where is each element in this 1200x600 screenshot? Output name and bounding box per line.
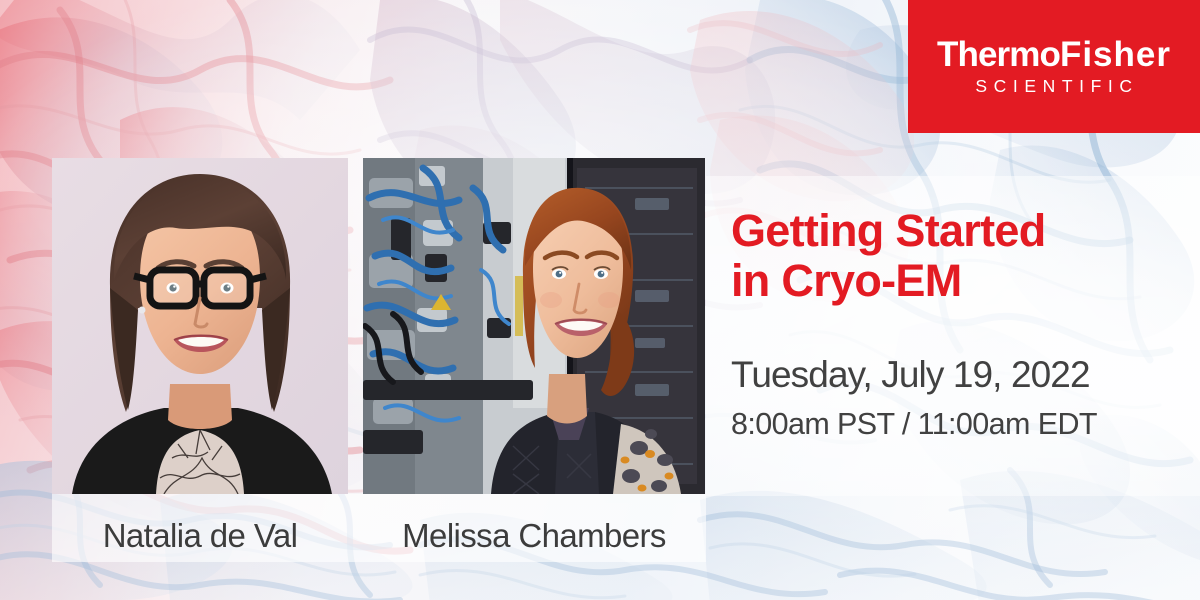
- logo-tagline: SCIENTIFIC: [975, 78, 1138, 96]
- event-date: Tuesday, July 19, 2022: [731, 354, 1090, 396]
- speaker-name-natalia-de-val: Natalia de Val: [52, 517, 348, 555]
- logo-wordmark-thermo: Thermo: [937, 35, 1060, 74]
- speaker-photo-melissa-chambers: [363, 158, 705, 494]
- page-title: Getting Started in Cryo-EM: [731, 206, 1181, 307]
- webinar-banner: ThermoFisher SCIENTIFIC: [0, 0, 1200, 600]
- logo-wordmark: ThermoFisher: [937, 37, 1171, 72]
- headline-line-1: Getting Started: [731, 206, 1181, 256]
- event-time: 8:00am PST / 11:00am EDT: [731, 407, 1097, 442]
- speaker-name-melissa-chambers: Melissa Chambers: [363, 517, 705, 555]
- speaker-photo-natalia-de-val: [52, 158, 348, 494]
- headline-line-2: in Cryo-EM: [731, 256, 1181, 306]
- thermo-fisher-scientific-logo: ThermoFisher SCIENTIFIC: [908, 0, 1200, 133]
- logo-wordmark-fisher: Fisher: [1060, 35, 1171, 74]
